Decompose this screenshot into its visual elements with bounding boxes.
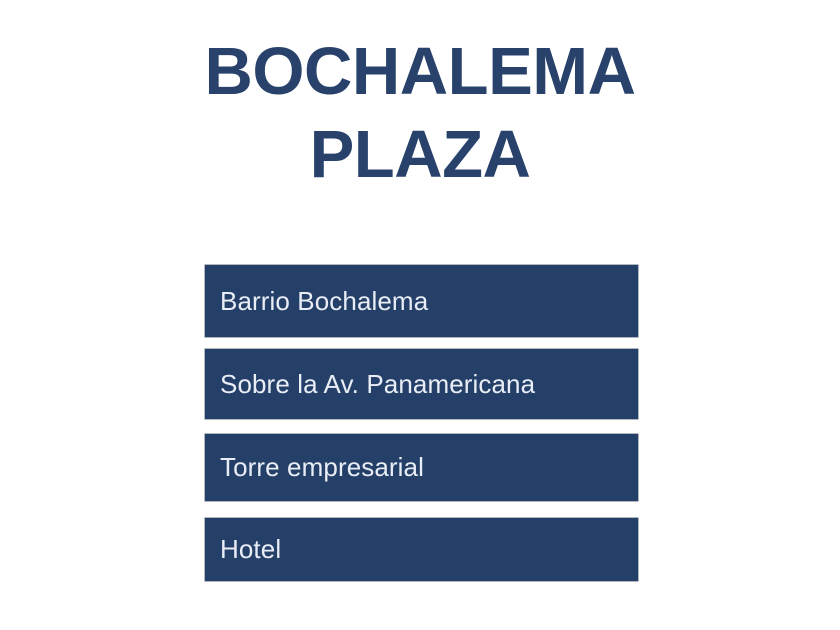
feature-bar-item: Hotel: [205, 518, 638, 581]
feature-bar-label: Hotel: [205, 535, 281, 564]
poster-canvas: BOCHALEMA PLAZA Barrio Bochalema Sobre l…: [0, 0, 840, 630]
feature-bar-item: Barrio Bochalema: [205, 265, 638, 337]
feature-bar-label: Torre empresarial: [205, 453, 424, 482]
page-title: BOCHALEMA PLAZA: [0, 38, 840, 188]
title-line-secondary: PLAZA: [0, 121, 840, 188]
feature-bar-label: Sobre la Av. Panamericana: [205, 370, 535, 399]
feature-bar-item: Torre empresarial: [205, 434, 638, 501]
feature-bar-item: Sobre la Av. Panamericana: [205, 349, 638, 419]
title-line-primary: BOCHALEMA: [0, 38, 840, 121]
feature-bar-list: Barrio Bochalema Sobre la Av. Panamerica…: [205, 265, 638, 581]
feature-bar-label: Barrio Bochalema: [205, 287, 428, 316]
